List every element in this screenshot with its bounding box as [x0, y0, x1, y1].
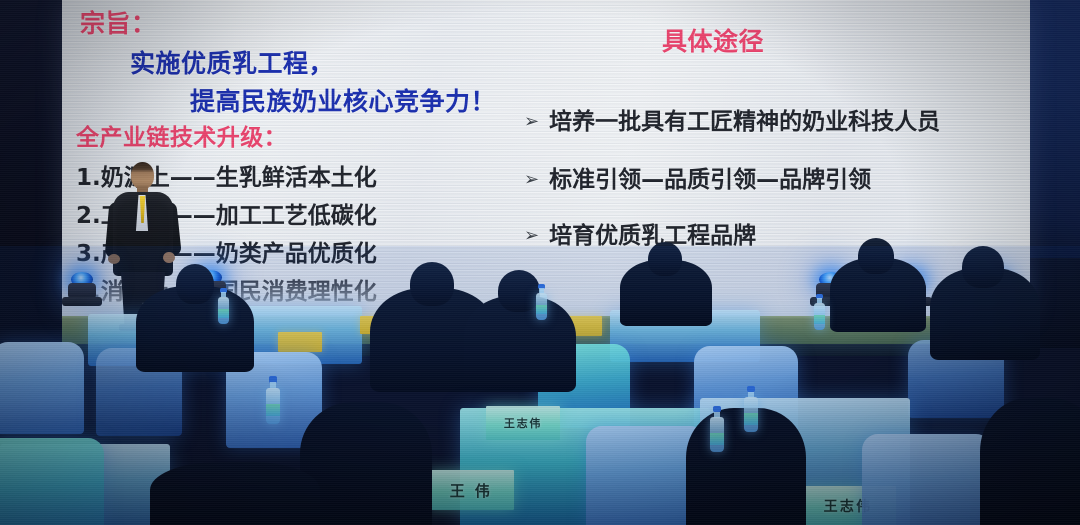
slide-ways-heading: 具体途径 [662, 22, 764, 58]
slide-bullet-item: ➢培育优质乳工程品牌 [524, 216, 756, 250]
audience-member-head [962, 246, 1004, 288]
bottle-label [710, 433, 724, 445]
bottle-label [218, 309, 229, 318]
slide-bullet-text: 培养一批具有工匠精神的奶业科技人员 [549, 109, 940, 135]
slide-bullet-text: 培育优质乳工程品牌 [549, 223, 756, 249]
audience-area: 王志伟 王 伟 王志伟 [0, 248, 1080, 525]
audience-member-head [648, 242, 682, 276]
audience-member-head [410, 262, 454, 306]
slide-bullet-item: ➢标准引领—品质引领—品牌引领 [524, 160, 871, 194]
conference-hall-scene: 宗旨： 实施优质乳工程， 提高民族奶业核心竞争力！ 全产业链技术升级： 1.奶源… [0, 0, 1080, 525]
name-placard [278, 332, 322, 352]
water-bottle [710, 406, 724, 452]
audience-member-head [858, 238, 894, 274]
water-bottle [744, 386, 758, 432]
presenter-head [131, 162, 154, 189]
water-bottle [218, 288, 229, 324]
slide-bullet-text: 标准引领—品质引领—品牌引领 [549, 167, 871, 193]
name-placard: 王 伟 [428, 470, 514, 510]
audience-chair [0, 438, 104, 525]
audience-member-head [498, 270, 540, 312]
audience-chair [862, 434, 992, 525]
bullet-arrow-icon: ➢ [524, 225, 539, 246]
water-bottle [536, 284, 547, 320]
audience-member-head [176, 264, 214, 304]
bottle-label [744, 413, 758, 425]
bottle-label [266, 404, 280, 416]
slide-chain-heading: 全产业链技术升级： [76, 118, 287, 152]
foreground-audience-member [980, 398, 1080, 525]
foreground-shadow [150, 462, 320, 525]
water-bottle [266, 376, 280, 424]
water-bottle [814, 294, 825, 330]
bullet-arrow-icon: ➢ [524, 111, 539, 132]
slide-purpose-line-2: 提高民族奶业核心竞争力！ [190, 82, 496, 118]
audience-chair [0, 342, 84, 434]
slide-bullet-item: ➢培养一批具有工匠精神的奶业科技人员 [524, 102, 940, 136]
bottle-label [536, 305, 547, 314]
bullet-arrow-icon: ➢ [524, 169, 539, 190]
slide-purpose-line-1: 实施优质乳工程， [130, 44, 334, 80]
name-placard: 王志伟 [486, 406, 560, 440]
bottle-label [814, 315, 825, 324]
slide-purpose-heading: 宗旨： [80, 4, 157, 40]
